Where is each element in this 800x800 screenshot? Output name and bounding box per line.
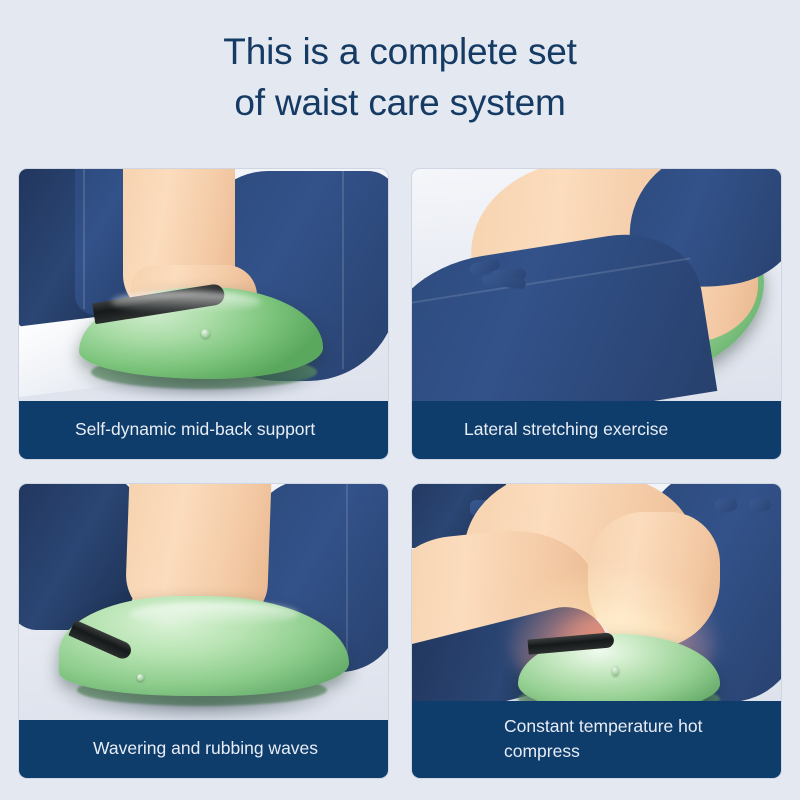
feature-card-1[interactable]: Self-dynamic mid-back support [18, 168, 389, 460]
feature-card-4-caption-line-1: Constant temperature hot [504, 714, 781, 739]
feature-card-grid: Self-dynamic mid-back support [18, 168, 782, 779]
feature-card-2-image [412, 169, 781, 401]
feature-card-2-caption-text: Lateral stretching exercise [464, 417, 781, 442]
feature-card-3-caption-text: Wavering and rubbing waves [93, 736, 388, 761]
device-power-button [612, 666, 619, 676]
feature-card-3-caption: Wavering and rubbing waves [19, 720, 388, 778]
feature-card-1-caption-text: Self-dynamic mid-back support [75, 417, 388, 442]
garment-seam-right [346, 484, 348, 654]
page-title-line-1: This is a complete set [0, 26, 800, 77]
device-power-button [201, 329, 210, 338]
feature-card-4-caption: Constant temperature hot compress [412, 701, 781, 778]
feature-card-4-caption-line-2: compress [504, 739, 781, 764]
feature-card-1-image [19, 169, 388, 401]
page-title-line-2: of waist care system [0, 77, 800, 128]
feature-card-4[interactable]: Constant temperature hot compress [411, 483, 782, 779]
garment-seam-right [342, 169, 344, 369]
feature-card-2[interactable]: Lateral stretching exercise [411, 168, 782, 460]
feature-card-2-caption: Lateral stretching exercise [412, 401, 781, 459]
feature-card-4-image [412, 484, 781, 701]
garment-seam-left [83, 169, 85, 309]
feature-card-1-caption: Self-dynamic mid-back support [19, 401, 388, 459]
page-title: This is a complete set of waist care sys… [0, 0, 800, 128]
feature-card-3[interactable]: Wavering and rubbing waves [18, 483, 389, 779]
feature-card-3-image [19, 484, 388, 720]
device-power-button [137, 674, 144, 681]
